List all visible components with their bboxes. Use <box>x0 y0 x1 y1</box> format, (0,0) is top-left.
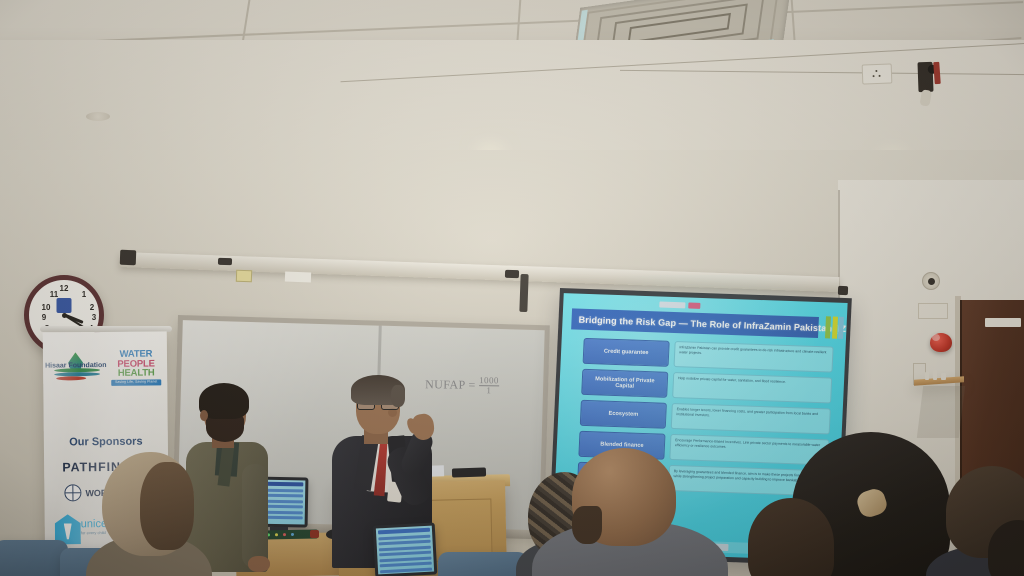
assistant-hand <box>248 556 270 572</box>
audience-back-left-hair <box>748 498 834 576</box>
fire-alarm-bell-icon <box>930 333 952 352</box>
rail-control-box[interactable] <box>236 270 252 283</box>
audience-chair-1 <box>0 540 68 576</box>
screen-cord[interactable] <box>519 274 528 312</box>
shelf-shadow <box>917 386 965 438</box>
audience-left-hair <box>140 462 194 550</box>
audience-chair-3 <box>438 552 528 576</box>
clock-numeral: 3 <box>88 313 100 322</box>
confidence-monitor-screen <box>376 526 434 575</box>
rail-label-sticker <box>285 272 311 283</box>
clock-brand-logo <box>57 298 72 313</box>
audience-headscarf-woman-left <box>94 452 204 576</box>
ceiling-speaker <box>922 272 940 290</box>
clock-center-pin <box>62 313 67 318</box>
slide-row-desc-box: Help mobilize private capital for water,… <box>672 372 832 404</box>
assistant-arm <box>242 464 268 568</box>
wall-mounted-box <box>918 303 948 319</box>
audience-bald-sideburn <box>572 506 602 544</box>
slide-row-label-box: Ecosystem <box>580 400 667 429</box>
slide-row-desc: Help mobilize private capital for water,… <box>678 376 827 386</box>
clock-numeral: 9 <box>38 313 50 322</box>
confidence-monitor[interactable] <box>373 522 438 576</box>
ceiling-power-socket <box>862 63 893 84</box>
recessed-downlight-1 <box>86 112 110 121</box>
shelf-object-2 <box>933 370 937 380</box>
screen-bracket-far <box>838 286 848 295</box>
slide-row: Mobilization of Private Capital Help mob… <box>581 369 832 404</box>
slide-corner-blocks <box>825 316 844 339</box>
partner-logo-pink-icon <box>688 302 700 308</box>
audience-back-right-hair <box>988 520 1024 576</box>
podium-microphone-base[interactable] <box>452 467 486 477</box>
desk-remote[interactable] <box>310 530 319 538</box>
rail-bracket-left <box>120 250 137 266</box>
slide-row: Ecosystem Enables longer tenors, lower f… <box>580 400 831 435</box>
slide-row-label-box: Mobilization of Private Capital <box>581 369 668 398</box>
shelf-object-3 <box>941 373 946 380</box>
slide-row-desc: InfraZamin Pakistan can provide credit g… <box>679 345 828 360</box>
slide-row-desc: Enables longer tenors, lower financing c… <box>676 407 825 422</box>
rail-bracket-mid <box>218 258 232 265</box>
slide-row-label-box: Credit guarantee <box>583 338 670 367</box>
presentation-room-photo: 12 1 2 3 4 5 6 7 8 9 10 11 NUFAP = 1000 … <box>0 0 1024 576</box>
corner-block-yellow-icon <box>831 317 837 339</box>
door-sign <box>985 318 1021 327</box>
audience-back-right <box>988 520 1024 576</box>
clock-numeral: 2 <box>86 303 98 312</box>
corner-block-green-icon <box>825 316 831 338</box>
slide-row-label: Mobilization of Private Capital <box>585 376 664 392</box>
slide-row-label: Credit guarantee <box>604 348 649 356</box>
audience-back-left <box>748 498 834 576</box>
slide-title: Bridging the Risk Gap — The Role of Infr… <box>578 314 847 334</box>
shelf-object-1 <box>925 372 929 380</box>
slide-row-label: Ecosystem <box>608 411 638 418</box>
slide-row-desc-box: Enables longer tenors, lower financing c… <box>671 403 831 435</box>
clock-numeral: 1 <box>78 290 90 299</box>
clock-numeral: 10 <box>40 303 52 312</box>
corner-block-cyan-icon <box>838 317 844 339</box>
assistant-ear <box>200 410 208 421</box>
slide-row-desc-box: InfraZamin Pakistan can provide credit g… <box>674 341 834 373</box>
rail-bracket-right <box>505 270 519 278</box>
audience-bald-man <box>556 448 706 576</box>
partner-logo-light-icon <box>659 301 685 308</box>
presenter-hair <box>351 375 405 405</box>
ceiling-camera <box>917 62 933 93</box>
